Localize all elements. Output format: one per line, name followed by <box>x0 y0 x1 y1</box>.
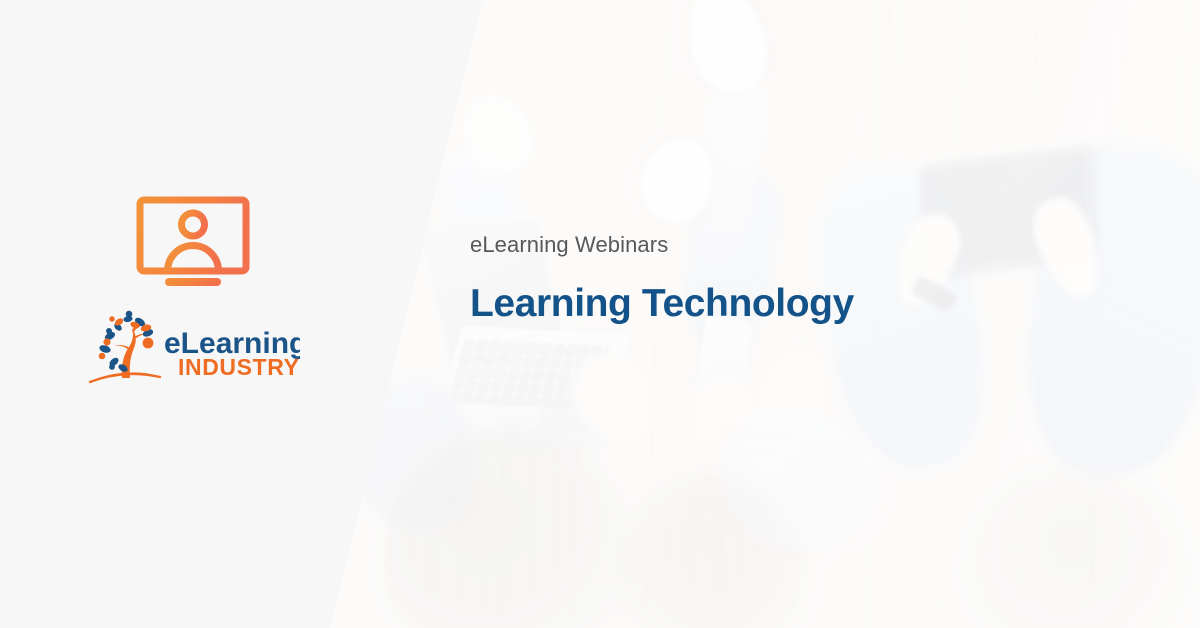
logo-word-industry: INDUSTRY <box>178 354 300 380</box>
hero-text-block: eLearning Webinars Learning Technology <box>470 232 990 326</box>
eyebrow-label: eLearning Webinars <box>470 232 990 258</box>
elearning-industry-logo[interactable]: eLearning INDUSTRY <box>88 306 300 390</box>
banner: eLearning INDUSTRY eLearning Webinars Le… <box>0 0 1200 628</box>
logo-wordmark: eLearning INDUSTRY <box>164 327 300 380</box>
webinar-screen-person-icon <box>136 196 250 288</box>
page-title: Learning Technology <box>470 282 990 326</box>
logo-tree-mark <box>90 311 160 382</box>
